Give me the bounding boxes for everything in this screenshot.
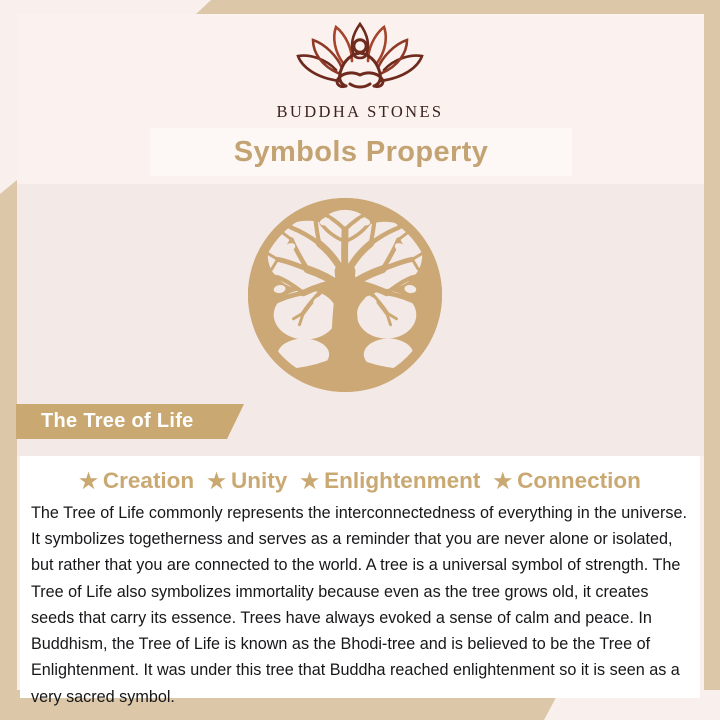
star-icon: ★ xyxy=(79,471,98,492)
keyword-item: ★ Connection xyxy=(493,468,641,494)
title-banner: Symbols Property xyxy=(150,128,572,176)
star-icon: ★ xyxy=(493,471,512,492)
emblem-label: The Tree of Life xyxy=(16,410,194,433)
frame-top-band xyxy=(195,0,720,15)
keyword-label: Connection xyxy=(517,468,641,494)
star-icon: ★ xyxy=(207,471,226,492)
keyword-item: ★ Creation xyxy=(79,468,194,494)
description-text: The Tree of Life commonly represents the… xyxy=(28,500,692,710)
brand-logo: BUDDHA STONES xyxy=(0,18,720,122)
keyword-label: Creation xyxy=(103,468,194,494)
brand-name: BUDDHA STONES xyxy=(0,102,720,122)
keyword-label: Enlightenment xyxy=(324,468,480,494)
keyword-label: Unity xyxy=(231,468,287,494)
keyword-item: ★ Enlightenment xyxy=(300,468,480,494)
description-panel: ★ Creation ★ Unity ★ Enlightenment ★ Con… xyxy=(20,456,700,698)
page-title: Symbols Property xyxy=(234,136,489,169)
tree-of-life-icon xyxy=(246,196,444,394)
poster-root: BUDDHA STONES Symbols Property xyxy=(0,0,720,720)
emblem-label-ribbon: The Tree of Life xyxy=(16,404,244,439)
meditating-buddha-lotus-icon xyxy=(280,18,440,98)
frame-left-band xyxy=(0,180,17,720)
tree-of-life-emblem xyxy=(246,196,444,394)
keyword-item: ★ Unity xyxy=(207,468,287,494)
keyword-list: ★ Creation ★ Unity ★ Enlightenment ★ Con… xyxy=(28,468,692,494)
star-icon: ★ xyxy=(300,471,319,492)
